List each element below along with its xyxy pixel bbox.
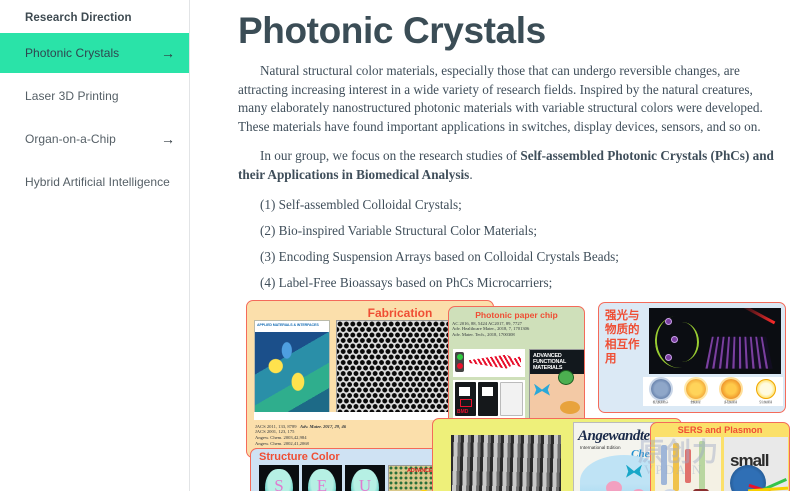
card-label: BMD [457,409,468,415]
sidebar-heading: Research Direction [0,0,189,25]
arrow-right-icon: → [161,132,175,146]
sidebar-item-laser-3d-printing[interactable]: Laser 3D Printing [0,76,189,116]
nanoparticle-caption: 空心纳米球 [750,400,781,404]
focus-paragraph-lead: In our group, we focus on the research s… [260,148,520,163]
sers-title: SERS and Plasmon [651,423,789,435]
chip-card-light [500,382,523,416]
particle-dot [665,354,672,361]
particle-dot [671,336,678,343]
sidebar: Research Direction Photonic Crystals → L… [0,0,190,491]
title-line: 用 [605,352,645,367]
cover-decoration [560,401,580,414]
journal-cover-caption: ADVANCED FUNCTIONAL MATERIALS [533,353,584,371]
journal-cover-small: small [724,437,788,491]
sidebar-item-label: Hybrid Artificial Intelligence [25,175,175,189]
nanoparticle-item: 金纳米星 [680,379,711,404]
citation-text: Adv. Mater. 2017, 29, 46 [300,424,346,429]
panel-letter-e [308,469,336,491]
schematic-column [685,449,691,483]
nanoparticle-item: 空心纳米球 [750,379,781,404]
sidebar-item-label: Organ-on-a-Chip [25,132,161,146]
journal-cover-advanced-functional-materials: ADVANCED FUNCTIONAL MATERIALS [529,349,585,421]
cell-shape [558,370,574,385]
fish-shape [469,355,521,369]
nanoparticle-caption: 金纳米星 [680,400,711,404]
topic-item-4: (4) Label-Free Bioassays based on PhCs M… [238,274,780,292]
sers-schematic-image [655,437,721,491]
title-line: 强光与 [605,309,645,324]
sers-images: small [655,437,788,491]
card-square [482,387,493,396]
chip-illustrations: BMD [453,349,525,421]
nanoparticle-item: 多孔纳米球 [715,379,746,404]
sidebar-item-hybrid-artificial-intelligence[interactable]: Hybrid Artificial Intelligence [0,162,189,202]
sem-cross-section-image [451,435,561,491]
chip-card-dark: BMD [455,382,476,416]
figure-box-light-matter-interaction: 强光与 物质的 相互作 用 核壳纳米粒子 [598,302,786,413]
paper-chip-cards: BMD [453,380,525,418]
panel-letter-u [351,469,379,491]
chip-card-dark [478,382,499,416]
structural-color-panel [259,465,299,491]
sidebar-item-label: Photonic Crystals [25,46,161,60]
title-line: 物质的 [605,323,645,338]
card-square [459,387,470,396]
red-light-dot [457,363,463,369]
paper-chip-citations: AC 2016, 88, 5424 AC2017, 89, 7727 Adv. … [449,320,584,338]
paper-chip-images: BMD ADVANCED FUNCTIONAL MATERIALS [453,349,585,421]
schematic-column [699,441,705,491]
research-overview-figure: Fabrication APPLIED MATERIALS & INTERFAC… [246,300,786,491]
porous-nanosphere-icon [721,379,741,399]
butterfly-shape [534,384,550,396]
schematic-column [673,443,679,491]
structural-color-panel [345,465,385,491]
hollow-nanosphere-icon [756,379,776,399]
title-line: 相互作 [605,338,645,353]
particle-dot [665,318,672,325]
main-content: Photonic Crystals Natural structural col… [190,0,800,491]
nanoparticle-caption: 多孔纳米球 [715,400,746,404]
topic-item-2: (2) Bio-inspired Variable Structural Col… [238,222,780,240]
page-root: Research Direction Photonic Crystals → L… [0,0,800,491]
journal-cover-aami: APPLIED MATERIALS & INTERFACES [254,320,330,420]
core-shell-particle-icon [651,379,671,399]
topic-item-1: (1) Self-assembled Colloidal Crystals; [238,196,780,214]
figure-box-center: Angewandte International Edition Chemie [432,418,682,491]
structural-color-panel [302,465,342,491]
card-outline [460,399,472,407]
panel-letter-s [265,469,293,491]
sidebar-item-organ-on-a-chip[interactable]: Organ-on-a-Chip → [0,119,189,159]
light-matter-title: 强光与 物质的 相互作 用 [605,309,645,367]
gold-nanostar-icon [686,379,706,399]
nanopillar-array [705,336,772,368]
topic-item-3: (3) Encoding Suspension Arrays based on … [238,248,780,266]
nanoparticle-item: 核壳纳米粒子 [645,379,676,404]
figure-box-photonic-paper-chip: Photonic paper chip AC 2016, 88, 5424 AC… [448,306,585,428]
sidebar-item-label: Laser 3D Printing [25,89,175,103]
focus-paragraph: In our group, we focus on the research s… [238,147,780,184]
journal-brand: small [724,437,788,471]
laser-beam [739,308,776,324]
arrow-right-icon: → [161,46,175,60]
schematic-column [661,445,667,485]
focus-paragraph-tail: . [469,167,472,182]
figure-box-sers-plasmon: SERS and Plasmon small [650,422,790,491]
nanoparticle-caption: 核壳纳米粒子 [645,400,676,404]
green-light-dot [457,354,463,360]
citation-line: Adv. Mater. Tech., 2018, 1700308 [452,332,584,338]
lotus-flower [606,481,622,491]
page-title: Photonic Crystals [238,8,780,54]
paper-chip-title: Photonic paper chip [449,307,584,320]
sidebar-item-photonic-crystals[interactable]: Photonic Crystals → [0,33,189,73]
citation-text: JACS 2011, 133, 8789 [255,424,297,429]
traffic-light-icon [455,352,464,372]
journal-cover-caption: APPLIED MATERIALS & INTERFACES [255,321,329,332]
intro-paragraph: Natural structural color materials, espe… [238,62,780,136]
nanoparticle-gallery: 核壳纳米粒子 金纳米星 多孔纳米球 空心纳米球 [643,377,783,406]
signal-fish-illustration [453,349,525,377]
light-matter-illustration [649,308,781,374]
